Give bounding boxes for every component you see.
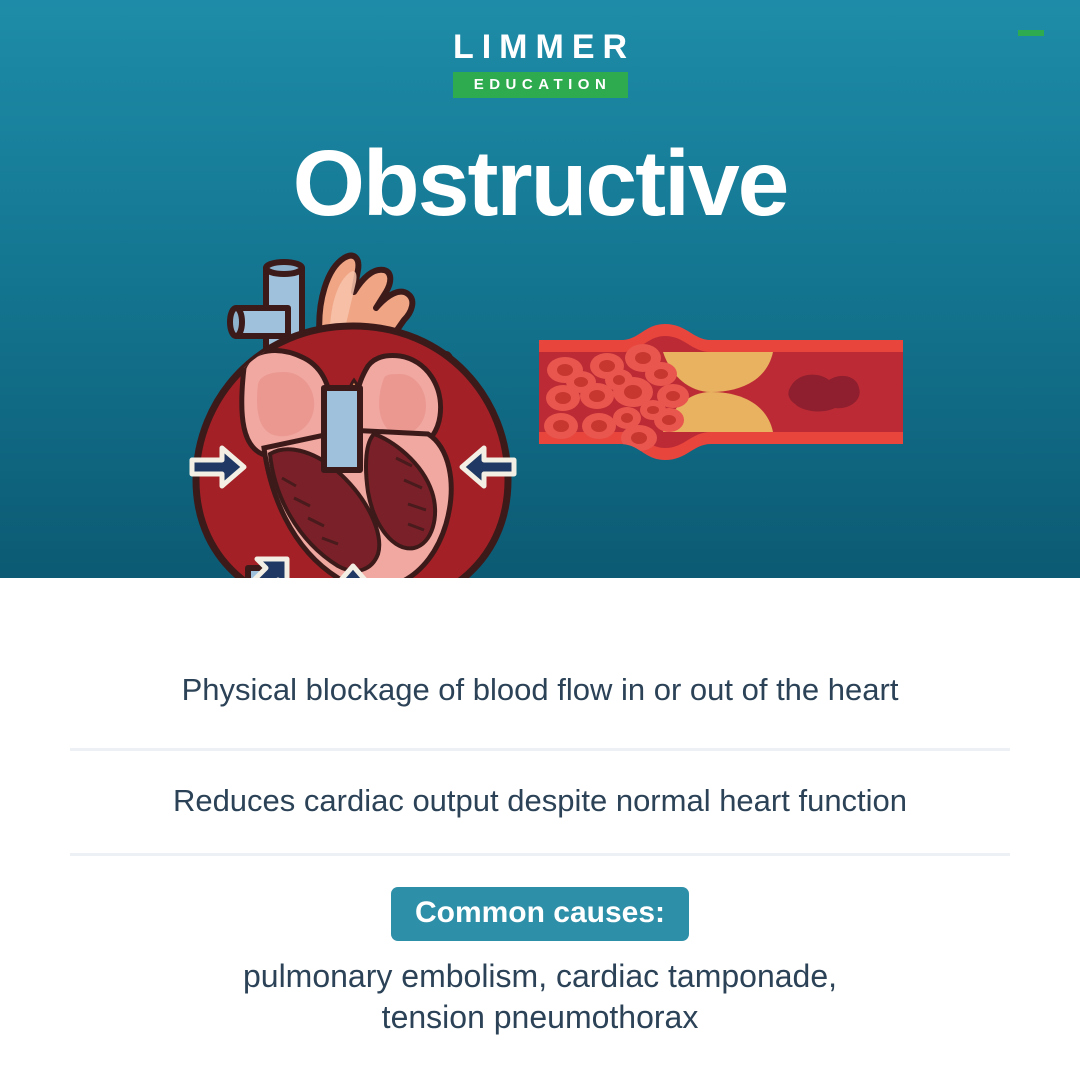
heart-cross-section-illustration	[178, 248, 528, 620]
fact-mechanism: Reduces cardiac output despite normal he…	[0, 781, 1080, 821]
details-panel: Physical blockage of blood flow in or ou…	[0, 578, 1080, 1080]
fact-definition: Physical blockage of blood flow in or ou…	[0, 670, 1080, 710]
infographic-card: LIMMER EDUCATION Obstructive	[0, 0, 1080, 1080]
divider-two	[70, 853, 1010, 856]
common-causes-header: Common causes:	[0, 887, 1080, 941]
common-causes-list: pulmonary embolism, cardiac tamponade, t…	[0, 956, 1080, 1038]
illustration-group	[0, 0, 1080, 640]
divider-one	[70, 748, 1010, 751]
common-causes-badge: Common causes:	[391, 887, 689, 941]
causes-line-2: tension pneumothorax	[0, 997, 1080, 1038]
causes-line-1: pulmonary embolism, cardiac tamponade,	[0, 956, 1080, 997]
occluded-blood-vessel-illustration	[535, 318, 907, 466]
